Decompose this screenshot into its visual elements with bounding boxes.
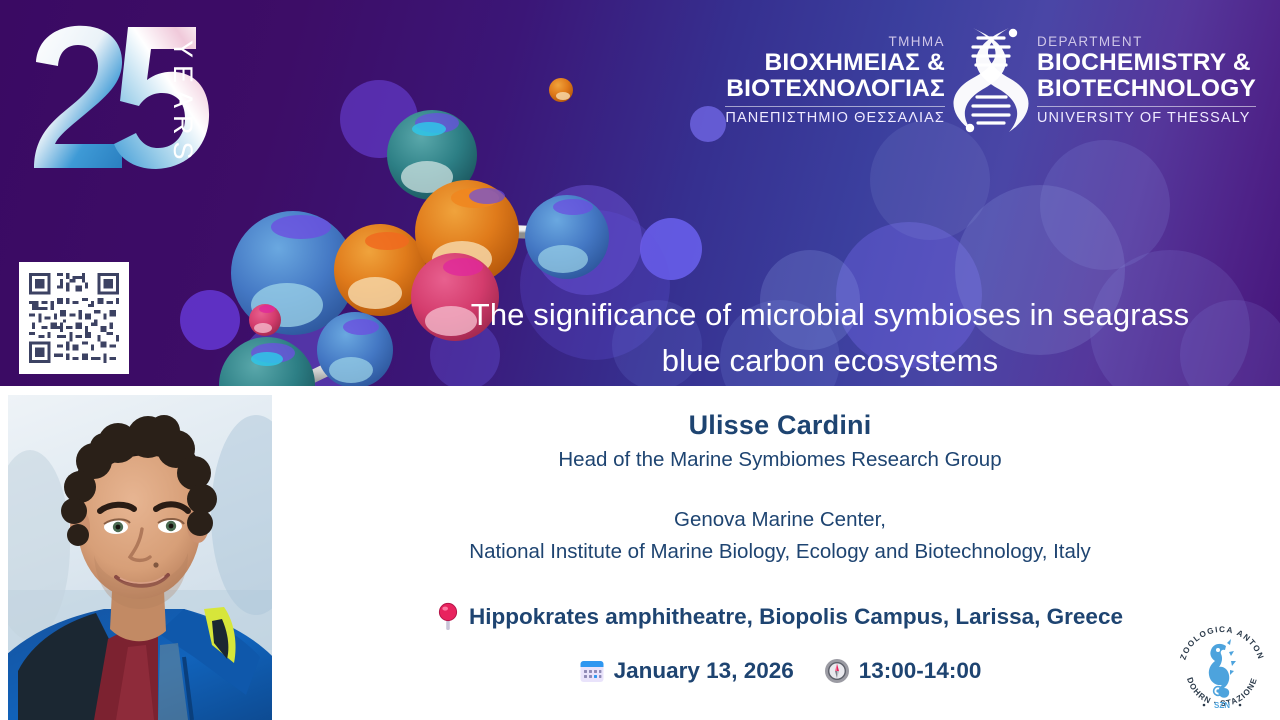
speaker-name: Ulisse Cardini [280,408,1280,442]
event-date-text: January 13, 2026 [614,656,794,686]
banner-header: YEARS ΤΜΗΜΑ ΒΙΟΧΗΜΕΙΑΣ & ΒΙΟΤΕΧΝΟΛΟΓΙΑΣ … [0,0,1280,386]
szn-logo: ZOOLOGICA ANTON DOHRN · STAZIONE SZN [1174,622,1270,714]
calendar-icon [579,658,605,684]
institute-logo: ZOOLOGICA ANTON DOHRN · STAZIONE SZN [1174,622,1270,714]
speaker-portrait-image [8,395,272,720]
svg-text:ZOOLOGICA ANTON: ZOOLOGICA ANTON [1178,625,1265,661]
anniversary-logo: YEARS [28,22,243,172]
department-greek-kicker: ΤΜΗΜΑ [888,34,945,50]
event-location-text: Hippokrates amphitheatre, Biopolis Campu… [469,602,1123,632]
speaker-affiliation-line2: National Institute of Marine Biology, Ec… [280,538,1280,566]
seminar-title: The significance of microbial symbioses … [400,292,1260,384]
bokeh-circle [870,120,990,240]
speaker-info: Ulisse Cardini Head of the Marine Symbio… [280,396,1280,686]
compass-icon [824,658,850,684]
qr-code-icon [29,273,119,363]
dna-helix-icon [951,24,1031,136]
department-english-line2: BIOTECHNOLOGY [1037,76,1256,103]
speaker-role: Head of the Marine Symbiomes Research Gr… [280,446,1280,474]
department-english-line1: BIOCHEMISTRY & [1037,50,1251,77]
event-datetime: January 13, 2026 13:00-14:00 [280,656,1280,686]
bokeh-circle [690,106,726,142]
speaker-photo [8,395,272,720]
round-pushpin-icon [437,602,459,632]
department-greek-line1: ΒΙΟΧΗΜΕΙΑΣ & [765,50,945,77]
institute-abbrev: SZN [1214,701,1230,710]
anniversary-word: YEARS [78,40,198,160]
qr-code[interactable] [19,262,129,374]
department-english-university: UNIVERSITY OF THESSALY [1037,110,1251,127]
divider [725,106,945,107]
seminar-title-line2: blue carbon ecosystems [400,338,1260,384]
event-time-text: 13:00-14:00 [859,656,982,686]
event-location: Hippokrates amphitheatre, Biopolis Campu… [280,602,1280,632]
seminar-announcement-poster: YEARS ΤΜΗΜΑ ΒΙΟΧΗΜΕΙΑΣ & ΒΙΟΤΕΧΝΟΛΟΓΙΑΣ … [0,0,1280,720]
institute-ring-text-top: ZOOLOGICA ANTON [1178,625,1265,661]
seminar-title-line1: The significance of microbial symbioses … [400,292,1260,338]
department-english-kicker: DEPARTMENT [1037,34,1143,50]
speaker-affiliation-line1: Genova Marine Center, [280,506,1280,534]
divider [1037,106,1256,107]
bokeh-circle [1040,140,1170,270]
department-logo-english: DEPARTMENT BIOCHEMISTRY & BIOTECHNOLOGY … [1031,34,1256,127]
department-logo: ΤΜΗΜΑ ΒΙΟΧΗΜΕΙΑΣ & ΒΙΟΤΕΧΝΟΛΟΓΙΑΣ ΠΑΝΕΠΙ… [725,24,1256,136]
department-greek-line2: ΒΙΟΤΕΧΝΟΛΟΓΙΑΣ [726,76,945,103]
department-logo-greek: ΤΜΗΜΑ ΒΙΟΧΗΜΕΙΑΣ & ΒΙΟΤΕΧΝΟΛΟΓΙΑΣ ΠΑΝΕΠΙ… [725,34,951,127]
department-greek-university: ΠΑΝΕΠΙΣΤΗΜΙΟ ΘΕΣΣΑΛΙΑΣ [725,110,945,127]
